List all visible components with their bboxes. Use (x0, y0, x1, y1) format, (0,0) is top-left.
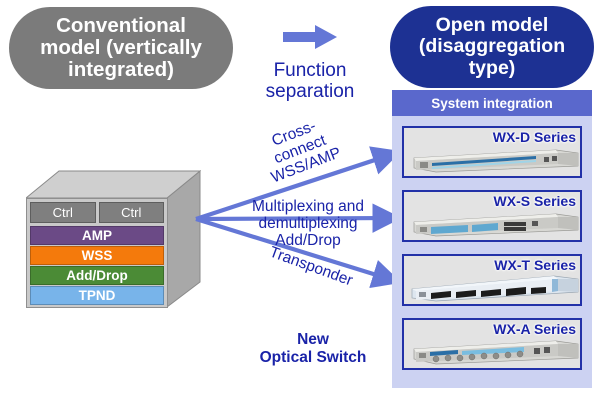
product-card-label: WX-A Series (493, 321, 576, 337)
new-optical-switch-label: New Optical Switch (248, 331, 378, 367)
arrow-label-cross-connect: Cross- connect WSS/AMP (235, 104, 365, 195)
conventional-model-header: Conventional model (vertically integrate… (9, 7, 233, 89)
layer-add-drop: Add/Drop (30, 266, 164, 285)
ctrl-cell-1: Ctrl (99, 202, 165, 223)
layer-tpnd: TPND (30, 286, 164, 305)
rack-server-icon (406, 334, 582, 366)
product-card-label: WX-S Series (494, 193, 576, 209)
conventional-model-chassis: Ctrl Ctrl AMP WSS Add/Drop TPND (26, 170, 201, 308)
product-card-wx-t[interactable]: WX-T Series (402, 254, 582, 306)
rack-server-icon (406, 142, 582, 174)
product-card-label: WX-T Series (494, 257, 576, 273)
product-card-wx-a[interactable]: WX-A Series (402, 318, 582, 370)
ctrl-row: Ctrl Ctrl (30, 202, 164, 223)
product-card-wx-s[interactable]: WX-S Series (402, 190, 582, 242)
open-model-header: Open model (disaggregation type) (390, 6, 594, 88)
product-card-wx-d[interactable]: WX-D Series (402, 126, 582, 178)
product-card-label: WX-D Series (493, 129, 576, 145)
function-separation-label: Function separation (244, 60, 376, 103)
system-integration-title: System integration (392, 90, 592, 116)
right-arrow-icon (283, 24, 337, 50)
layer-amp: AMP (30, 226, 164, 245)
rack-server-icon (406, 206, 582, 238)
diagram-canvas: Conventional model (vertically integrate… (0, 0, 600, 401)
layer-wss: WSS (30, 246, 164, 265)
ctrl-cell-0: Ctrl (30, 202, 96, 223)
chassis-front-face: Ctrl Ctrl AMP WSS Add/Drop TPND (26, 198, 168, 308)
rack-switch-icon (406, 270, 582, 302)
